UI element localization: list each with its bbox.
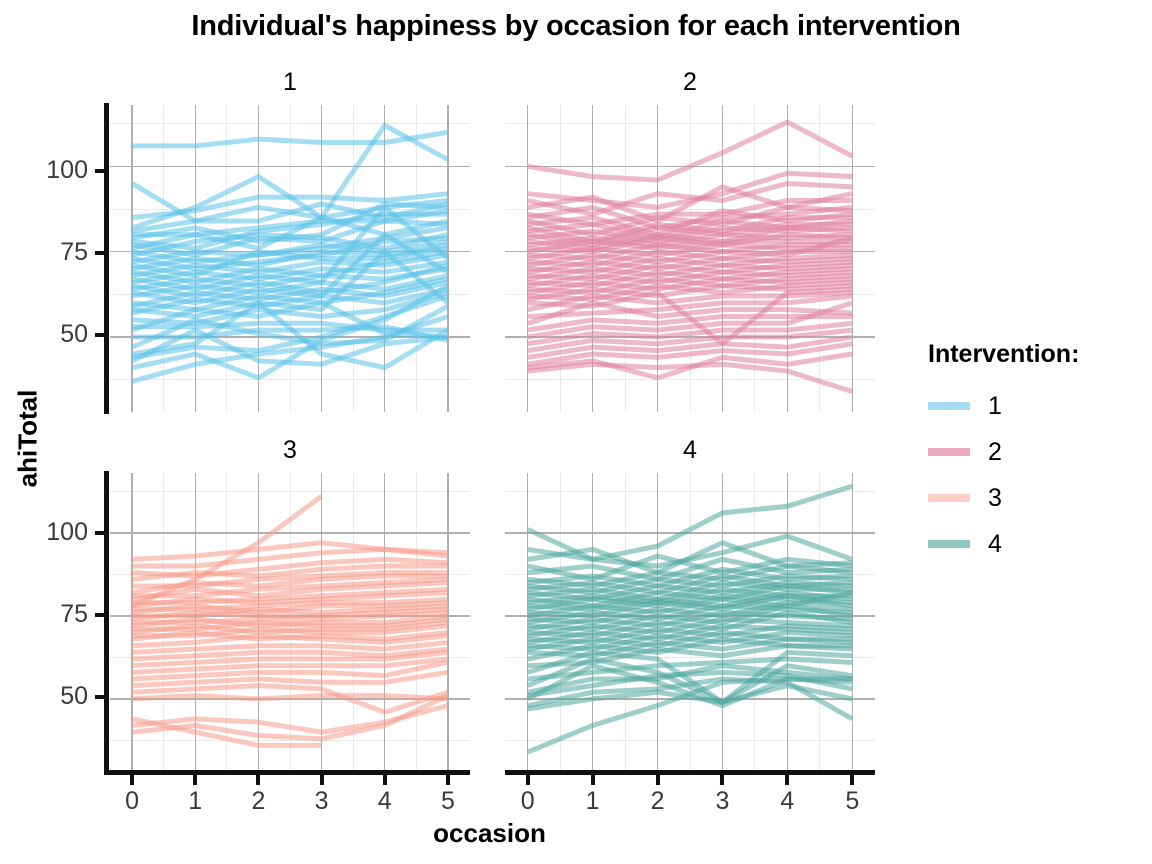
y-tick-mark-75-row1 xyxy=(95,251,105,255)
legend-item-3[interactable]: 3 xyxy=(928,475,1079,521)
x-tick-mark-2-col2 xyxy=(656,775,660,785)
series-group xyxy=(110,105,470,412)
x-tick-label-5-col1: 5 xyxy=(423,787,473,816)
facet-panel-2 xyxy=(505,105,875,412)
legend-label-4: 4 xyxy=(988,530,1002,559)
x-axis-title: occasion xyxy=(104,818,875,849)
series-line xyxy=(528,364,853,391)
legend-label-3: 3 xyxy=(988,484,1002,513)
legend-item-1[interactable]: 1 xyxy=(928,383,1079,429)
legend-label-2: 2 xyxy=(988,438,1002,467)
x-tick-mark-2-col1 xyxy=(256,775,260,785)
y-axis-line-row2 xyxy=(104,471,109,774)
y-tick-mark-100-row1 xyxy=(95,169,105,173)
y-tick-mark-100-row2 xyxy=(95,531,105,535)
x-tick-mark-0-col2 xyxy=(526,775,530,785)
x-tick-label-0-col1: 0 xyxy=(107,787,157,816)
y-tick-mark-50-row1 xyxy=(95,333,105,337)
x-tick-mark-5-col1 xyxy=(446,775,450,785)
x-tick-mark-3-col2 xyxy=(720,775,724,785)
series-line xyxy=(528,486,853,559)
y-axis-title: ahiTotal xyxy=(13,369,44,509)
series-group xyxy=(505,105,875,412)
facet-strip-label-1: 1 xyxy=(110,68,470,97)
series-line xyxy=(132,696,448,739)
legend-item-4[interactable]: 4 xyxy=(928,521,1079,567)
series-line xyxy=(132,696,448,699)
x-tick-mark-0-col1 xyxy=(130,775,134,785)
facet-panel-4 xyxy=(505,473,875,772)
y-tick-label-100-row1: 100 xyxy=(0,156,88,185)
x-tick-label-0-col2: 0 xyxy=(503,787,553,816)
x-tick-label-3-col2: 3 xyxy=(697,787,747,816)
y-tick-label-100-row2: 100 xyxy=(0,518,88,547)
y-tick-label-50-row2: 50 xyxy=(0,682,88,711)
legend-key-2 xyxy=(928,448,970,456)
legend-key-3 xyxy=(928,494,970,502)
legend-label-1: 1 xyxy=(988,392,1002,421)
y-tick-label-75-row2: 75 xyxy=(0,600,88,629)
x-tick-mark-5-col2 xyxy=(850,775,854,785)
chart-root: Individual's happiness by occasion for e… xyxy=(0,0,1152,864)
x-tick-label-2-col1: 2 xyxy=(233,787,283,816)
facet-strip-label-3: 3 xyxy=(110,436,470,465)
x-axis-line-col2 xyxy=(505,770,875,775)
x-tick-label-4-col2: 4 xyxy=(762,787,812,816)
y-tick-label-50-row1: 50 xyxy=(0,320,88,349)
x-tick-label-3-col1: 3 xyxy=(297,787,347,816)
x-axis-line-col1 xyxy=(104,770,470,775)
x-tick-mark-3-col1 xyxy=(320,775,324,785)
x-tick-label-1-col2: 1 xyxy=(568,787,618,816)
legend-title: Intervention: xyxy=(928,340,1079,369)
series-group xyxy=(505,473,875,772)
series-line xyxy=(528,122,853,180)
series-group xyxy=(110,473,470,772)
x-tick-mark-1-col1 xyxy=(193,775,197,785)
legend-key-1 xyxy=(928,402,970,410)
page-title: Individual's happiness by occasion for e… xyxy=(0,10,1152,43)
legend: Intervention: 1 2 3 4 xyxy=(928,340,1079,567)
facet-panel-3 xyxy=(110,473,470,772)
y-tick-mark-75-row2 xyxy=(95,613,105,617)
x-tick-label-2-col2: 2 xyxy=(633,787,683,816)
x-tick-label-1-col1: 1 xyxy=(170,787,220,816)
x-tick-mark-4-col2 xyxy=(785,775,789,785)
legend-item-2[interactable]: 2 xyxy=(928,429,1079,475)
x-tick-mark-1-col2 xyxy=(591,775,595,785)
y-axis-line-row1 xyxy=(104,103,109,414)
facet-strip-label-2: 2 xyxy=(505,68,875,97)
y-tick-mark-50-row2 xyxy=(95,695,105,699)
legend-key-4 xyxy=(928,540,970,548)
x-tick-label-4-col1: 4 xyxy=(360,787,410,816)
facet-strip-label-4: 4 xyxy=(505,436,875,465)
facet-panel-1 xyxy=(110,105,470,412)
x-tick-mark-4-col1 xyxy=(383,775,387,785)
x-tick-label-5-col2: 5 xyxy=(827,787,877,816)
y-tick-label-75-row1: 75 xyxy=(0,238,88,267)
